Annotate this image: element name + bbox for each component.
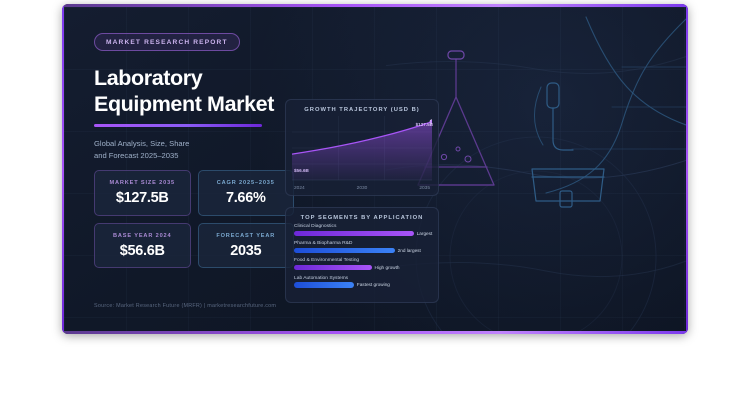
page-title: Laboratory Equipment Market	[94, 66, 294, 117]
headline-line-1: Laboratory	[94, 66, 294, 92]
stat-card-grid: MARKET SIZE 2035 $127.5B CAGR 2025–2035 …	[94, 170, 294, 268]
stat-value: $127.5B	[101, 191, 184, 206]
x-tick-1: 2030	[357, 186, 368, 191]
slide-canvas: MARKET RESEARCH REPORT Laboratory Equipm…	[64, 7, 686, 331]
chart-title: GROWTH TRAJECTORY (USD B)	[292, 107, 432, 113]
segments-list: Clinical DiagnosticsLargestPharma & Biop…	[294, 224, 430, 288]
chart-start-value-label: $56.6B	[294, 168, 309, 173]
chart-plot-area: $56.6B $127.5B 2024 2030 2035	[292, 116, 432, 190]
hero-column: MARKET RESEARCH REPORT Laboratory Equipm…	[94, 31, 294, 162]
segment-row: Lab Automation SystemsFastest growing	[294, 276, 430, 288]
stat-label: BASE YEAR 2024	[101, 233, 184, 239]
segment-bar-fill	[294, 282, 354, 287]
top-segments-panel: TOP SEGMENTS BY APPLICATION Clinical Dia…	[285, 207, 439, 303]
stat-card-forecast-year: FORECAST YEAR 2035	[198, 223, 295, 269]
x-tick-2: 2035	[419, 186, 430, 191]
segments-title: TOP SEGMENTS BY APPLICATION	[294, 215, 430, 221]
segment-row: Pharma & Biopharma R&D2nd largest	[294, 241, 430, 253]
subtitle-line-1: Global Analysis, Size, Share	[94, 138, 294, 150]
growth-area-chart	[292, 116, 432, 190]
stat-card-cagr: CAGR 2025–2035 7.66%	[198, 170, 295, 216]
chart-end-value-label: $127.5B	[416, 122, 433, 127]
stat-card-base-year: BASE YEAR 2024 $56.6B	[94, 223, 191, 269]
segment-name: Lab Automation Systems	[294, 276, 430, 281]
chart-x-axis-ticks: 2024 2030 2035	[292, 186, 432, 191]
segment-tag: 2nd largest	[398, 248, 421, 253]
stat-label: FORECAST YEAR	[205, 233, 288, 239]
headline-underline	[94, 124, 262, 127]
segment-name: Food & Environmental Testing	[294, 258, 430, 263]
frame-edge-bottom	[62, 331, 688, 334]
growth-trajectory-panel: GROWTH TRAJECTORY (USD B)	[285, 99, 439, 196]
segment-tag: Fastest growing	[357, 282, 390, 287]
segment-bar-fill	[294, 248, 395, 253]
subtitle-line-2: and Forecast 2025–2035	[94, 150, 294, 162]
segment-bar-track: Fastest growing	[294, 282, 430, 287]
segment-row: Clinical DiagnosticsLargest	[294, 224, 430, 236]
stat-card-market-size: MARKET SIZE 2035 $127.5B	[94, 170, 191, 216]
segment-bar-track: 2nd largest	[294, 248, 430, 253]
segment-name: Clinical Diagnostics	[294, 224, 430, 229]
segment-row: Food & Environmental TestingHigh growth	[294, 258, 430, 270]
stat-label: CAGR 2025–2035	[205, 180, 288, 186]
segment-bar-fill	[294, 231, 414, 236]
slide-frame: MARKET RESEARCH REPORT Laboratory Equipm…	[62, 4, 688, 334]
subtitle: Global Analysis, Size, Share and Forecas…	[94, 138, 294, 163]
segment-bar-track: Largest	[294, 231, 430, 236]
source-attribution: Source: Market Research Future (MRFR) | …	[94, 303, 276, 309]
segment-name: Pharma & Biopharma R&D	[294, 241, 430, 246]
report-badge: MARKET RESEARCH REPORT	[94, 33, 240, 51]
headline-line-2: Equipment Market	[94, 92, 294, 118]
stat-label: MARKET SIZE 2035	[101, 180, 184, 186]
segment-bar-fill	[294, 265, 372, 270]
x-tick-0: 2024	[294, 186, 305, 191]
segment-bar-track: High growth	[294, 265, 430, 270]
frame-edge-right	[686, 4, 688, 334]
stat-value: $56.6B	[101, 244, 184, 259]
segment-tag: High growth	[375, 265, 400, 270]
stat-value: 7.66%	[205, 191, 288, 206]
stat-value: 2035	[205, 244, 288, 259]
segment-tag: Largest	[417, 231, 433, 236]
